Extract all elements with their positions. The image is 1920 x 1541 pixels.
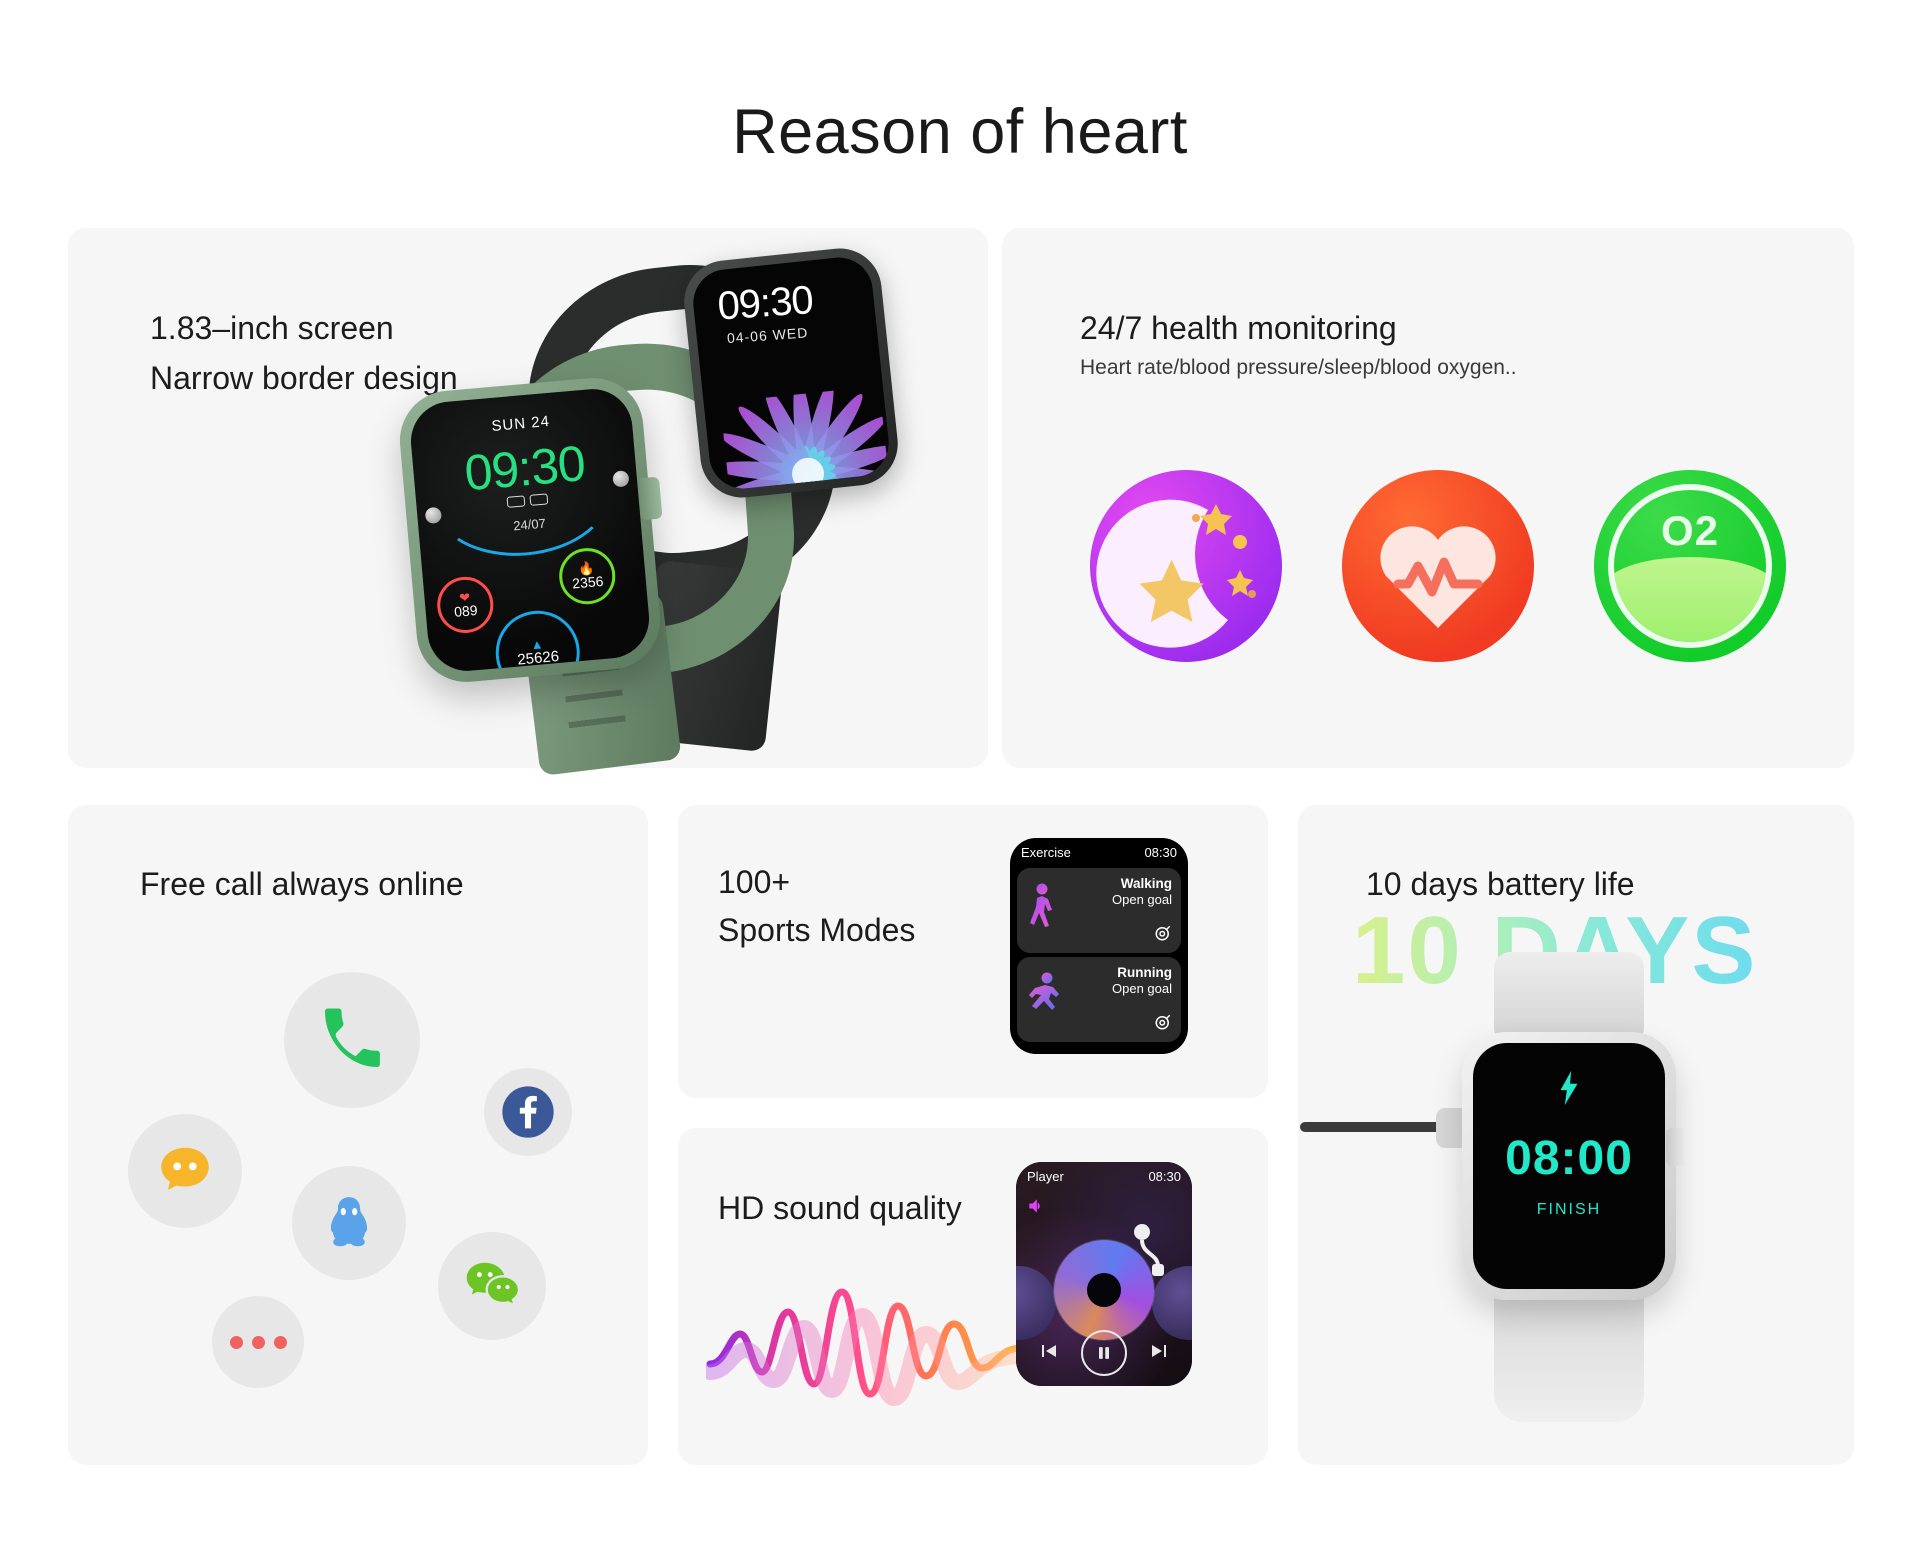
health-title: 24/7 health monitoring bbox=[1080, 310, 1397, 347]
wechat-icon[interactable] bbox=[438, 1232, 546, 1340]
sports-title-line1: 100+ bbox=[718, 864, 790, 901]
silver-watch-crown[interactable] bbox=[1666, 1128, 1686, 1166]
screw-right-icon bbox=[612, 470, 629, 487]
charging-time: 08:00 bbox=[1505, 1131, 1633, 1186]
target-icon[interactable] bbox=[1154, 1013, 1172, 1036]
silver-watch: 08:00 FINISH bbox=[1462, 1032, 1676, 1300]
silver-band-top bbox=[1494, 952, 1644, 1044]
sports-header-label: Exercise bbox=[1021, 845, 1071, 860]
product-feature-page: Reason of heart 1.83–inch screen Narrow … bbox=[0, 0, 1920, 1541]
green-watch-crown[interactable] bbox=[637, 477, 663, 521]
o2-label: O2 bbox=[1661, 507, 1719, 555]
player-header-label: Player bbox=[1027, 1169, 1064, 1184]
sleep-icon bbox=[1090, 470, 1282, 662]
target-icon[interactable] bbox=[1154, 924, 1172, 947]
sports-header-time: 08:30 bbox=[1144, 845, 1177, 860]
steps-ring: ▲ 25626 bbox=[492, 607, 583, 674]
calories-ring: 🔥 2356 bbox=[557, 546, 618, 607]
silver-band-bottom bbox=[1494, 1290, 1644, 1422]
running-icon bbox=[1027, 971, 1065, 1021]
music-player-watch-screen: Player 08:30 bbox=[1016, 1162, 1192, 1386]
more-dots bbox=[230, 1336, 287, 1349]
green-watch-date: 24/07 bbox=[513, 516, 547, 534]
o2-wave bbox=[1608, 557, 1772, 642]
black-watch-face: 09:30 04-06 WED bbox=[690, 254, 892, 492]
green-watch-day: SUN 24 bbox=[491, 413, 551, 435]
sports-watch-statusbar: Exercise 08:30 bbox=[1010, 838, 1188, 864]
player-controls bbox=[1016, 1330, 1192, 1376]
sports-watch-screen: Exercise 08:30 Walking Open goal bbox=[1010, 838, 1188, 1054]
phone-icon[interactable] bbox=[284, 972, 420, 1108]
green-watch: SUN 24 09:30 24/07 ❤ 089 🔥 2356 ▲ 25626 bbox=[396, 374, 665, 686]
flower-bloom-icon bbox=[720, 386, 892, 492]
message-icon[interactable] bbox=[128, 1114, 242, 1228]
walking-icon bbox=[1027, 882, 1061, 932]
green-watch-time: 09:30 bbox=[462, 434, 587, 502]
heart-rate-ring: ❤ 089 bbox=[435, 575, 496, 636]
next-track-button[interactable] bbox=[1147, 1339, 1171, 1368]
lightning-bolt-icon bbox=[1556, 1071, 1582, 1110]
more-icon[interactable] bbox=[212, 1296, 304, 1388]
pause-button[interactable] bbox=[1081, 1330, 1127, 1376]
calories-value: 2356 bbox=[572, 572, 604, 591]
green-watch-face: SUN 24 09:30 24/07 ❤ 089 🔥 2356 ▲ 25626 bbox=[408, 386, 653, 674]
steps-value: 25626 bbox=[517, 648, 560, 669]
screen-title-line1: 1.83–inch screen bbox=[150, 310, 394, 347]
player-header-time: 08:30 bbox=[1148, 1169, 1181, 1184]
black-watch: 09:30 04-06 WED bbox=[680, 244, 902, 501]
facebook-icon[interactable] bbox=[484, 1068, 572, 1156]
player-statusbar: Player 08:30 bbox=[1016, 1162, 1192, 1188]
blood-oxygen-icon: O2 bbox=[1594, 470, 1786, 662]
health-icon-row: O2 bbox=[1090, 470, 1786, 662]
earbud-icon bbox=[1130, 1224, 1170, 1284]
black-watch-time: 09:30 bbox=[716, 278, 814, 330]
sound-title: HD sound quality bbox=[718, 1190, 962, 1227]
watch-pair-illustration: 09:30 04-06 WED bbox=[380, 248, 988, 768]
previous-track-button[interactable] bbox=[1037, 1339, 1061, 1368]
qq-icon[interactable] bbox=[292, 1166, 406, 1280]
sports-title-line2: Sports Modes bbox=[718, 912, 915, 949]
silver-watch-face: 08:00 FINISH bbox=[1473, 1043, 1665, 1289]
charging-status: FINISH bbox=[1537, 1201, 1601, 1219]
heart-rate-icon bbox=[1342, 470, 1534, 662]
health-subtitle: Heart rate/blood pressure/sleep/blood ox… bbox=[1080, 356, 1517, 380]
call-title: Free call always online bbox=[140, 866, 464, 903]
speaker-icon[interactable] bbox=[1025, 1196, 1047, 1221]
sports-row-running[interactable]: Running Open goal bbox=[1017, 957, 1181, 1042]
page-title: Reason of heart bbox=[0, 96, 1920, 168]
audio-waveform bbox=[706, 1272, 1026, 1422]
heart-rate-value: 089 bbox=[453, 601, 478, 619]
sports-row-walking[interactable]: Walking Open goal bbox=[1017, 868, 1181, 953]
